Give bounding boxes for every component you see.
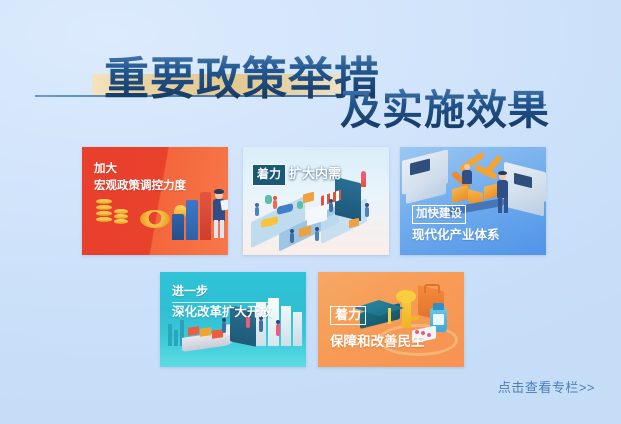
- view-column-link[interactable]: 点击查看专栏>>: [498, 377, 595, 396]
- card-macro-policy[interactable]: 加大 宏观政策调控力度: [82, 147, 228, 255]
- card2-caption: 着力 扩大内需: [252, 164, 345, 186]
- card2-line-2: 扩大内需: [285, 164, 345, 186]
- businessman-figure: [210, 187, 228, 241]
- coin-stack-icon: [114, 219, 128, 224]
- card1-caption: 加大 宏观政策调控力度: [94, 162, 186, 193]
- gold-ring-icon: [140, 210, 170, 228]
- key-bow: [396, 290, 416, 303]
- bar-chart-bar: [168, 324, 172, 346]
- figure-body: [365, 207, 369, 217]
- card3-caption: 加快建设 现代化产业体系: [412, 203, 500, 243]
- bottle-cap: [433, 303, 444, 310]
- card1-line-1: 加大: [94, 162, 186, 176]
- tree-icon: [297, 201, 303, 209]
- coin-stack-icon: [114, 209, 128, 214]
- card-improve-peoples-livelihood[interactable]: 着力 保障和改善民生: [318, 272, 464, 367]
- figure-body: [290, 233, 294, 243]
- title-line-1: 重要政策举措: [104, 42, 380, 107]
- card-expand-domestic-demand[interactable]: 着力 扩大内需: [243, 147, 389, 255]
- coin-stack-icon: [96, 205, 112, 210]
- card1-line-2: 宏观政策调控力度: [94, 179, 186, 193]
- parcel-box: [349, 218, 359, 228]
- figure-body: [259, 320, 263, 332]
- card5-caption: 着力 保障和改善民生: [330, 306, 425, 350]
- bar-chart-bar: [172, 214, 184, 240]
- ship-container: [200, 327, 211, 337]
- figure-body: [315, 231, 319, 241]
- bar-chart-bar: [186, 200, 198, 240]
- coin-stack-icon: [96, 211, 112, 216]
- card4-line-1: 进一步: [172, 284, 272, 299]
- poster-canvas: 重要政策举措 及实施效果 加大 宏观政策调控力度: [0, 0, 621, 424]
- card5-line-2: 保障和改善民生: [330, 330, 425, 350]
- card-modern-industrial-system[interactable]: 加快建设 现代化产业体系: [400, 147, 546, 255]
- marker-pin: [361, 171, 366, 187]
- figure-body: [255, 207, 259, 216]
- card3-line-2: 现代化产业体系: [412, 228, 500, 243]
- pill-dot: [427, 333, 431, 337]
- bottle-label: [433, 314, 444, 325]
- card5-line-1: 着力: [330, 306, 366, 325]
- figure-body: [329, 203, 333, 212]
- ship-container: [188, 326, 199, 336]
- card2-line-1: 着力: [252, 164, 285, 186]
- card4-caption: 进一步 深化改革扩大开放: [172, 284, 272, 320]
- figure-body: [273, 200, 277, 209]
- card-deepen-reform-opening[interactable]: 进一步 深化改革扩大开放: [160, 272, 306, 367]
- parcel-box: [303, 192, 314, 204]
- card4-line-2: 深化改革扩大开放: [172, 302, 272, 320]
- tree-icon: [265, 195, 272, 204]
- page-title: 重要政策举措 及实施效果: [0, 0, 621, 135]
- coin-stack-icon: [114, 214, 128, 219]
- tower-building: [281, 306, 291, 346]
- coin-stack-icon: [96, 199, 112, 204]
- figure-body: [276, 324, 280, 336]
- title-line-2: 及实施效果: [340, 76, 550, 136]
- card3-line-1: 加快建设: [412, 205, 466, 224]
- figure-body: [222, 322, 226, 333]
- briefcase-handle: [424, 284, 440, 293]
- worker-figure: [460, 163, 474, 193]
- bar-chart-bar: [174, 330, 178, 346]
- tower-building: [293, 312, 302, 346]
- coin-stack-icon: [96, 217, 112, 222]
